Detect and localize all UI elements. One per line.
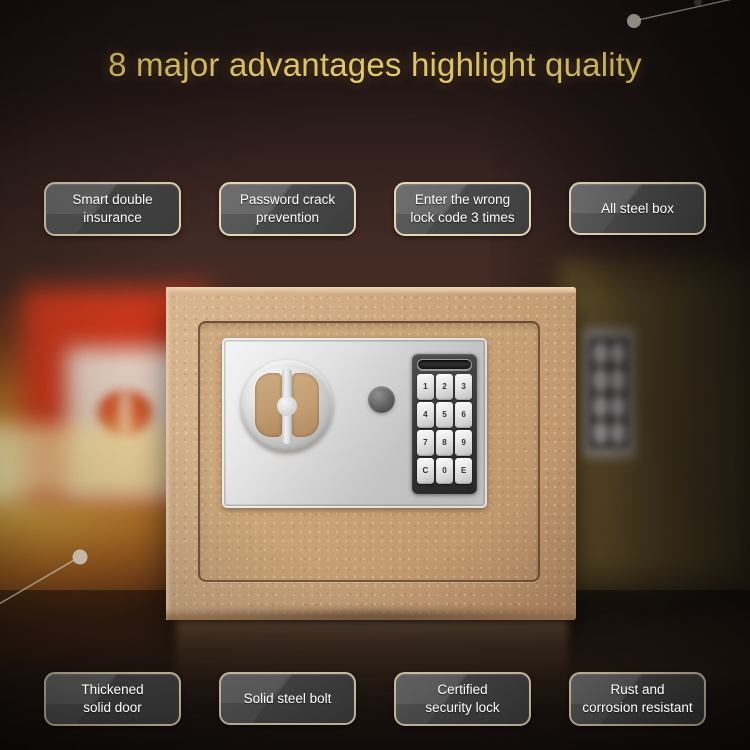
badge-line-1: Thickened: [81, 681, 143, 699]
safe-keypad: 1 2 3 4 5 6 7 8 9 C 0 E: [412, 354, 477, 494]
product-marketing-image: 8 major advantages highlight quality Sma…: [0, 0, 750, 750]
page-title: 8 major advantages highlight quality: [0, 46, 750, 84]
safe-faceplate: 1 2 3 4 5 6 7 8 9 C 0 E: [222, 338, 487, 508]
safe-reset-button[interactable]: [368, 386, 395, 413]
keypad-key-clear[interactable]: C: [417, 458, 434, 484]
keypad-key-0[interactable]: 0: [436, 458, 453, 484]
badge-line-1: Smart double: [72, 191, 152, 209]
keypad-key-8[interactable]: 8: [436, 430, 453, 456]
safe-top-edge: [166, 287, 576, 294]
badge-password-crack-prevention[interactable]: Password crack prevention: [219, 182, 356, 236]
badge-line-1: Enter the wrong: [410, 191, 514, 209]
badge-line-1: All steel box: [601, 200, 674, 218]
badge-line-2: corrosion resistant: [582, 699, 692, 717]
badge-line-1: Rust and: [582, 681, 692, 699]
keypad-key-3[interactable]: 3: [455, 374, 472, 400]
keypad-key-enter[interactable]: E: [455, 458, 472, 484]
badge-line-1: Solid steel bolt: [244, 690, 332, 708]
badge-enter-wrong-lock-code[interactable]: Enter the wrong lock code 3 times: [394, 182, 531, 236]
advantage-badges-top: Smart double insurance Password crack pr…: [44, 182, 706, 236]
handle-hub: [277, 396, 297, 416]
badge-line-2: prevention: [240, 209, 335, 227]
badge-line-1: Certified: [425, 681, 499, 699]
badge-all-steel-box[interactable]: All steel box: [569, 182, 706, 235]
safe-handle-dial[interactable]: [241, 360, 333, 452]
electronic-safe-product: 1 2 3 4 5 6 7 8 9 C 0 E: [166, 287, 576, 620]
badge-line-2: insurance: [72, 209, 152, 227]
badge-line-2: solid door: [81, 699, 143, 717]
keypad-key-7[interactable]: 7: [417, 430, 434, 456]
keypad-key-1[interactable]: 1: [417, 374, 434, 400]
badge-line-1: Password crack: [240, 191, 335, 209]
keypad-key-9[interactable]: 9: [455, 430, 472, 456]
safe-left-edge: [166, 287, 172, 620]
keypad-display: [417, 359, 472, 370]
badge-smart-double-insurance[interactable]: Smart double insurance: [44, 182, 181, 236]
keypad-key-2[interactable]: 2: [436, 374, 453, 400]
keypad-key-5[interactable]: 5: [436, 402, 453, 428]
badge-certified-security-lock[interactable]: Certified security lock: [394, 672, 531, 726]
badge-line-2: lock code 3 times: [410, 209, 514, 227]
advantage-badges-bottom: Thickened solid door Solid steel bolt Ce…: [44, 672, 706, 726]
badge-rust-corrosion-resistant[interactable]: Rust and corrosion resistant: [569, 672, 706, 726]
keypad-key-4[interactable]: 4: [417, 402, 434, 428]
badge-line-2: security lock: [425, 699, 499, 717]
badge-solid-steel-bolt[interactable]: Solid steel bolt: [219, 672, 356, 725]
keypad-grid: 1 2 3 4 5 6 7 8 9 C 0 E: [417, 374, 472, 484]
keypad-key-6[interactable]: 6: [455, 402, 472, 428]
badge-thickened-solid-door[interactable]: Thickened solid door: [44, 672, 181, 726]
